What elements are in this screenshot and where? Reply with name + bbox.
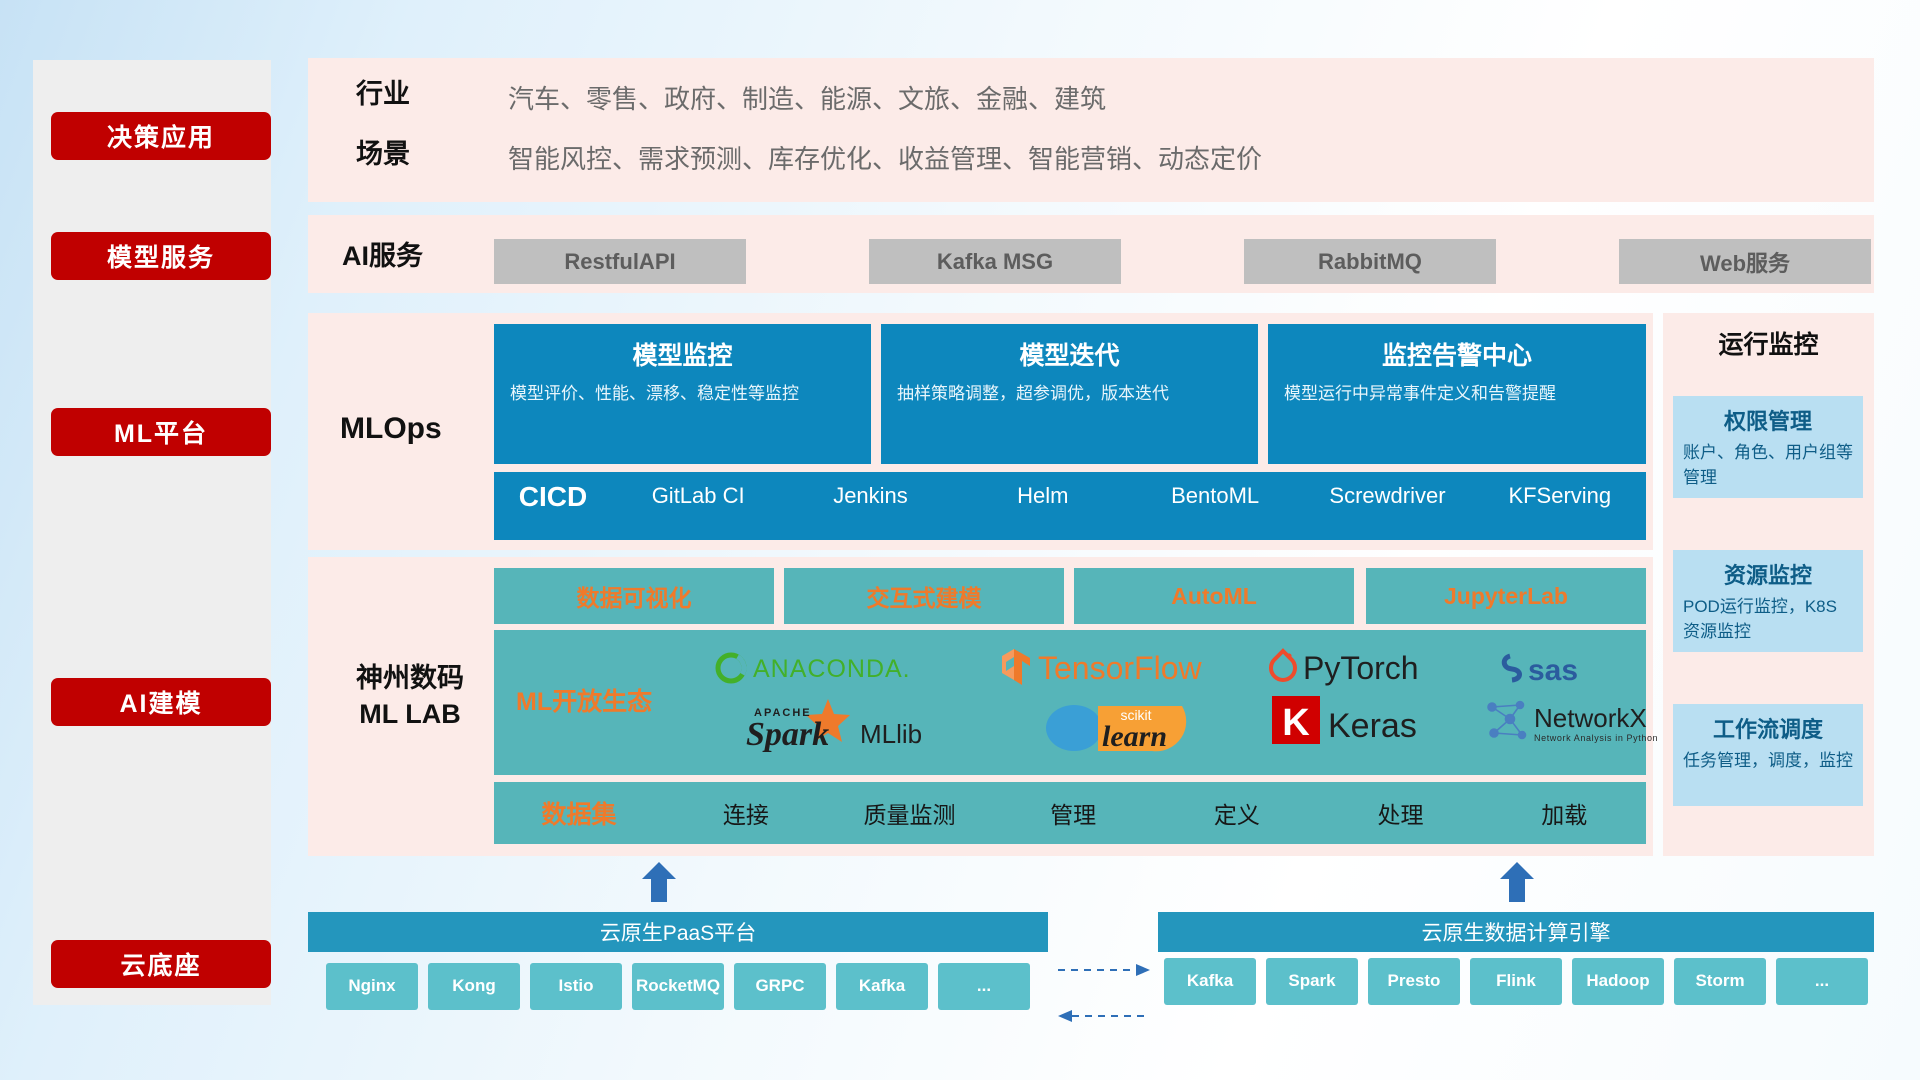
mlops-card-alert-center[interactable]: 监控告警中心 模型运行中异常事件定义和告警提醒 bbox=[1268, 324, 1646, 464]
ai-service-label: AI服务 bbox=[342, 240, 423, 274]
sas-logo: sas bbox=[1500, 648, 1640, 693]
cloud-chip-kafka-paas[interactable]: Kafka bbox=[836, 963, 928, 1010]
arrow-up-engine-icon bbox=[1498, 862, 1536, 902]
ml-lab-label-line1: 神州数码 bbox=[356, 663, 464, 693]
svg-text:Network Analysis in Python: Network Analysis in Python bbox=[1534, 733, 1658, 743]
spark-mllib-logo: APACHE Spark MLlib bbox=[740, 695, 990, 760]
cloud-chip-nginx[interactable]: Nginx bbox=[326, 963, 418, 1010]
ml-lab-label-line2: ML LAB bbox=[359, 699, 461, 729]
chip-label: Presto bbox=[1388, 972, 1441, 991]
monitoring-card-permission[interactable]: 权限管理 账户、角色、用户组等管理 bbox=[1673, 396, 1863, 498]
monitoring-card-resource[interactable]: 资源监控 POD运行监控，K8S资源监控 bbox=[1673, 550, 1863, 652]
arrow-up-paas-icon bbox=[640, 862, 678, 902]
cloud-chip-kong[interactable]: Kong bbox=[428, 963, 520, 1010]
connector-right-arrow-icon bbox=[1058, 962, 1150, 983]
dataset-item-connect[interactable]: 连接 bbox=[664, 796, 828, 830]
chip-label: RestfulAPI bbox=[564, 249, 675, 275]
dataset-item-quality-monitor[interactable]: 质量监测 bbox=[828, 796, 992, 830]
cicd-title: CICD bbox=[494, 481, 612, 513]
cloud-bar-data-engine: 云原生数据计算引擎 bbox=[1158, 912, 1874, 952]
cloud-chip-storm[interactable]: Storm bbox=[1674, 958, 1766, 1005]
card-desc: 抽样策略调整，超参调优，版本迭代 bbox=[897, 382, 1242, 407]
svg-text:TensorFlow: TensorFlow bbox=[1038, 650, 1203, 686]
svg-text:MLlib: MLlib bbox=[860, 719, 922, 749]
monitoring-card-workflow[interactable]: 工作流调度 任务管理，调度，监控 bbox=[1673, 704, 1863, 806]
cloud-chip-more-paas[interactable]: ... bbox=[938, 963, 1030, 1010]
tool-chip-interactive-modeling[interactable]: 交互式建模 bbox=[784, 568, 1064, 624]
card-title: 权限管理 bbox=[1683, 404, 1853, 436]
architecture-diagram: 决策应用 模型服务 ML平台 AI建模 云底座 行业 汽车、零售、政府、制造、能… bbox=[0, 0, 1920, 1080]
chip-label: AutoML bbox=[1171, 583, 1257, 610]
connector-left-arrow-icon bbox=[1058, 1008, 1150, 1029]
monitoring-title: 运行监控 bbox=[1663, 325, 1874, 361]
card-title: 模型监控 bbox=[510, 336, 855, 372]
tool-chip-jupyterlab[interactable]: JupyterLab bbox=[1366, 568, 1646, 624]
mlops-card-model-monitoring[interactable]: 模型监控 模型评价、性能、漂移、稳定性等监控 bbox=[494, 324, 871, 464]
chip-label: 数据可视化 bbox=[577, 579, 692, 613]
chip-label: Istio bbox=[559, 977, 594, 996]
mlops-label: MLOps bbox=[340, 410, 442, 448]
card-title: 工作流调度 bbox=[1683, 712, 1853, 744]
tool-chip-automl[interactable]: AutoML bbox=[1074, 568, 1354, 624]
cloud-chip-presto[interactable]: Presto bbox=[1368, 958, 1460, 1005]
rail-item-ml-platform[interactable]: ML平台 bbox=[51, 408, 271, 456]
chip-label: Kafka bbox=[1187, 972, 1233, 991]
scikit-learn-logo: scikit learn bbox=[1040, 692, 1240, 759]
rail-item-cloud-base[interactable]: 云底座 bbox=[51, 940, 271, 988]
cicd-item-screwdriver[interactable]: Screwdriver bbox=[1301, 481, 1473, 511]
svg-text:learn: learn bbox=[1102, 720, 1167, 753]
svg-text:sas: sas bbox=[1528, 654, 1578, 687]
svg-text:K: K bbox=[1282, 702, 1310, 744]
cloud-bar-paas: 云原生PaaS平台 bbox=[308, 912, 1048, 952]
cicd-item-jenkins[interactable]: Jenkins bbox=[784, 481, 956, 511]
cicd-bar: CICD GitLab CI Jenkins Helm BentoML Scre… bbox=[494, 472, 1646, 540]
service-chip-rabbitmq[interactable]: RabbitMQ bbox=[1244, 239, 1496, 284]
chip-label: GRPC bbox=[755, 977, 804, 996]
cloud-chip-kafka-engine[interactable]: Kafka bbox=[1164, 958, 1256, 1005]
card-title: 监控告警中心 bbox=[1284, 336, 1630, 372]
pytorch-logo: PyTorch bbox=[1267, 645, 1467, 694]
card-desc: 任务管理，调度，监控 bbox=[1683, 749, 1853, 774]
rail-item-ai-modeling[interactable]: AI建模 bbox=[51, 678, 271, 726]
chip-label: Kong bbox=[452, 977, 495, 996]
chip-label: Nginx bbox=[348, 977, 395, 996]
chip-label: Kafka MSG bbox=[937, 249, 1053, 275]
cloud-bar-label: 云原生数据计算引擎 bbox=[1422, 917, 1611, 947]
cicd-item-bentoml[interactable]: BentoML bbox=[1129, 481, 1301, 511]
ml-lab-label: 神州数码 ML LAB bbox=[330, 660, 490, 733]
chip-label: Spark bbox=[1288, 972, 1335, 991]
dataset-item-manage[interactable]: 管理 bbox=[991, 796, 1155, 830]
anaconda-logo: ANACONDA. bbox=[713, 648, 963, 693]
chip-label: Storm bbox=[1695, 972, 1744, 991]
cloud-chip-hadoop[interactable]: Hadoop bbox=[1572, 958, 1664, 1005]
rail-item-label: 决策应用 bbox=[107, 118, 215, 154]
networkx-logo: NetworkX Network Analysis in Python bbox=[1480, 695, 1670, 758]
dataset-band: 数据集 连接 质量监测 管理 定义 处理 加载 bbox=[494, 782, 1646, 844]
scenario-label: 场景 bbox=[356, 138, 410, 172]
cloud-chip-flink[interactable]: Flink bbox=[1470, 958, 1562, 1005]
chip-label: Kafka bbox=[859, 977, 905, 996]
cicd-item-kfserving[interactable]: KFServing bbox=[1474, 481, 1646, 511]
rail-item-model-service[interactable]: 模型服务 bbox=[51, 232, 271, 280]
svg-text:Spark: Spark bbox=[746, 716, 829, 753]
cloud-chip-more-engine[interactable]: ... bbox=[1776, 958, 1868, 1005]
card-desc: POD运行监控，K8S资源监控 bbox=[1683, 595, 1853, 644]
service-chip-web-service[interactable]: Web服务 bbox=[1619, 239, 1871, 284]
cicd-item-gitlab-ci[interactable]: GitLab CI bbox=[612, 481, 784, 511]
cicd-item-helm[interactable]: Helm bbox=[957, 481, 1129, 511]
chip-label: Hadoop bbox=[1586, 972, 1649, 991]
svg-text:Keras: Keras bbox=[1328, 707, 1417, 745]
svg-text:PyTorch: PyTorch bbox=[1303, 650, 1419, 686]
rail-item-label: 模型服务 bbox=[107, 238, 215, 274]
rail-item-decision-app[interactable]: 决策应用 bbox=[51, 112, 271, 160]
industry-text: 汽车、零售、政府、制造、能源、文旅、金融、建筑 bbox=[508, 79, 1106, 116]
scenario-text: 智能风控、需求预测、库存优化、收益管理、智能营销、动态定价 bbox=[508, 139, 1262, 176]
keras-logo: K Keras bbox=[1270, 692, 1470, 755]
svg-text:ANACONDA.: ANACONDA. bbox=[753, 655, 911, 683]
cloud-chip-spark[interactable]: Spark bbox=[1266, 958, 1358, 1005]
tool-chip-data-visualization[interactable]: 数据可视化 bbox=[494, 568, 774, 624]
chip-label: Web服务 bbox=[1700, 246, 1790, 278]
cloud-bar-label: 云原生PaaS平台 bbox=[600, 917, 756, 947]
chip-label: JupyterLab bbox=[1444, 583, 1568, 610]
dataset-title: 数据集 bbox=[494, 795, 664, 831]
industry-label: 行业 bbox=[356, 78, 410, 112]
rail-item-label: 云底座 bbox=[120, 946, 201, 982]
dataset-item-process[interactable]: 处理 bbox=[1319, 796, 1483, 830]
cloud-chip-rocketmq[interactable]: RocketMQ bbox=[632, 963, 724, 1010]
chip-label: Flink bbox=[1496, 972, 1536, 991]
rail-item-label: AI建模 bbox=[119, 684, 202, 720]
card-desc: 账户、角色、用户组等管理 bbox=[1683, 441, 1853, 490]
chip-label: RabbitMQ bbox=[1318, 249, 1422, 275]
card-title: 模型迭代 bbox=[897, 336, 1242, 372]
svg-text:NetworkX: NetworkX bbox=[1534, 703, 1647, 733]
chip-label: RocketMQ bbox=[636, 977, 720, 996]
cloud-chip-grpc[interactable]: GRPC bbox=[734, 963, 826, 1010]
mlops-card-model-iteration[interactable]: 模型迭代 抽样策略调整，超参调优，版本迭代 bbox=[881, 324, 1258, 464]
chip-label: ... bbox=[1815, 972, 1829, 991]
chip-label: ... bbox=[977, 977, 991, 996]
card-desc: 模型运行中异常事件定义和告警提醒 bbox=[1284, 382, 1630, 407]
service-chip-kafka-msg[interactable]: Kafka MSG bbox=[869, 239, 1121, 284]
card-title: 资源监控 bbox=[1683, 558, 1853, 590]
dataset-item-load[interactable]: 加载 bbox=[1482, 796, 1646, 830]
dataset-item-define[interactable]: 定义 bbox=[1155, 796, 1319, 830]
ml-ecosystem-label: ML开放生态 bbox=[516, 682, 652, 718]
card-desc: 模型评价、性能、漂移、稳定性等监控 bbox=[510, 382, 855, 407]
cloud-chip-istio[interactable]: Istio bbox=[530, 963, 622, 1010]
rail-item-label: ML平台 bbox=[114, 414, 208, 450]
chip-label: 交互式建模 bbox=[867, 579, 982, 613]
left-rail bbox=[33, 60, 271, 1005]
tensorflow-logo: TensorFlow bbox=[1000, 645, 1240, 694]
service-chip-restfulapi[interactable]: RestfulAPI bbox=[494, 239, 746, 284]
